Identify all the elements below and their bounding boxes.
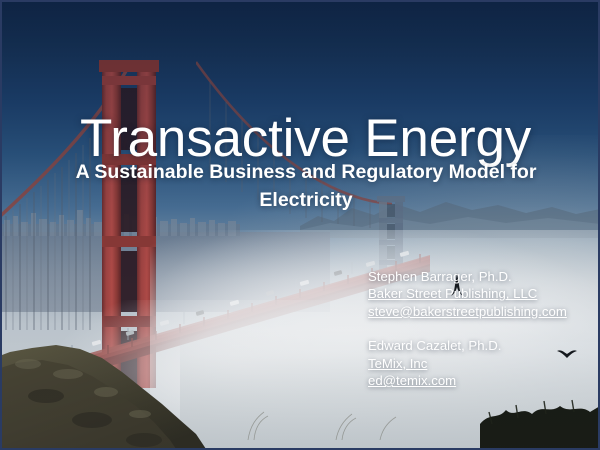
author-email-link[interactable]: steve@bakerstreetpublishing.com (368, 303, 600, 320)
author-name: Stephen Barrager, Ph.D. (368, 268, 600, 285)
author-block: Edward Cazalet, Ph.D. TeMix, Inc ed@temi… (368, 337, 600, 389)
author-name: Edward Cazalet, Ph.D. (368, 337, 600, 354)
author-organization-link[interactable]: TeMix, Inc (368, 355, 600, 372)
headland-cliff (0, 330, 264, 450)
author-email-link[interactable]: ed@temix.com (368, 372, 600, 389)
author-list: Stephen Barrager, Ph.D. Baker Street Pub… (368, 268, 600, 390)
title-slide: Transactive Energy A Sustainable Busines… (0, 0, 600, 450)
grass-wisps (230, 400, 470, 440)
slide-title: Transactive Energy (80, 110, 550, 167)
author-block: Stephen Barrager, Ph.D. Baker Street Pub… (368, 268, 600, 320)
author-organization-link[interactable]: Baker Street Publishing, LLC (368, 285, 600, 302)
slide-subtitle: A Sustainable Business and Regulatory Mo… (58, 159, 554, 214)
brush-foreground (480, 390, 600, 450)
